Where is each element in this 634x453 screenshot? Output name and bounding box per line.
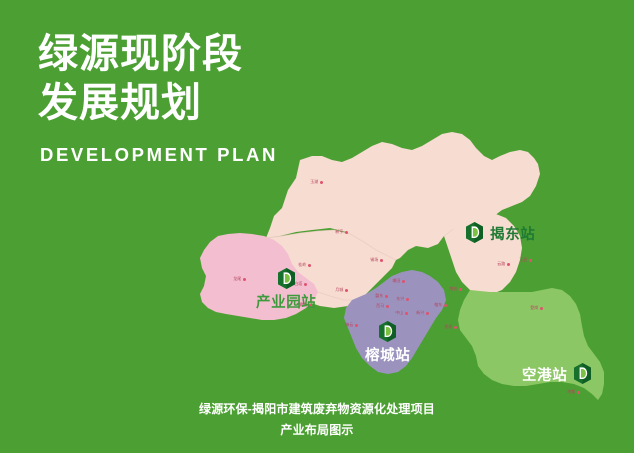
lvyuan-logo-icon — [466, 222, 483, 248]
station-label-jiedong: 揭东站 — [490, 228, 535, 243]
development-plan-poster: 玉湖新亨锡场桂岭白塔龙尾月城霖磐埔田炮台云路玉窖磐东东兴西马中山新兴榕东梅云渔湖… — [0, 0, 634, 453]
station-marker-konggang[interactable]: 空港站 — [522, 363, 591, 389]
poster-caption: 绿源环保-揭阳市建筑废弃物资源化处理项目 产业布局图示 — [0, 399, 634, 441]
headline-subtitle: DEVELOPMENT PLAN — [40, 144, 278, 166]
caption-line-1: 绿源环保-揭阳市建筑废弃物资源化处理项目 — [0, 399, 634, 420]
station-label-rongcheng: 榕城站 — [365, 349, 410, 364]
station-marker-rongcheng[interactable]: 榕城站 — [365, 321, 410, 364]
lvyuan-logo-icon — [574, 363, 591, 389]
headline-line-2: 发展规划 — [38, 79, 278, 128]
station-label-konggang: 空港站 — [522, 369, 567, 384]
lvyuan-logo-icon — [379, 321, 396, 347]
headline-block: 绿源现阶段 发展规划 DEVELOPMENT PLAN — [38, 30, 278, 166]
headline-line-1: 绿源现阶段 — [38, 30, 278, 79]
station-marker-chanyeyuan[interactable]: 产业园站 — [256, 268, 316, 311]
station-label-chanyeyuan: 产业园站 — [256, 296, 316, 311]
station-marker-jiedong[interactable]: 揭东站 — [466, 222, 535, 248]
caption-line-2: 产业布局图示 — [0, 420, 634, 441]
lvyuan-logo-icon — [278, 268, 295, 294]
